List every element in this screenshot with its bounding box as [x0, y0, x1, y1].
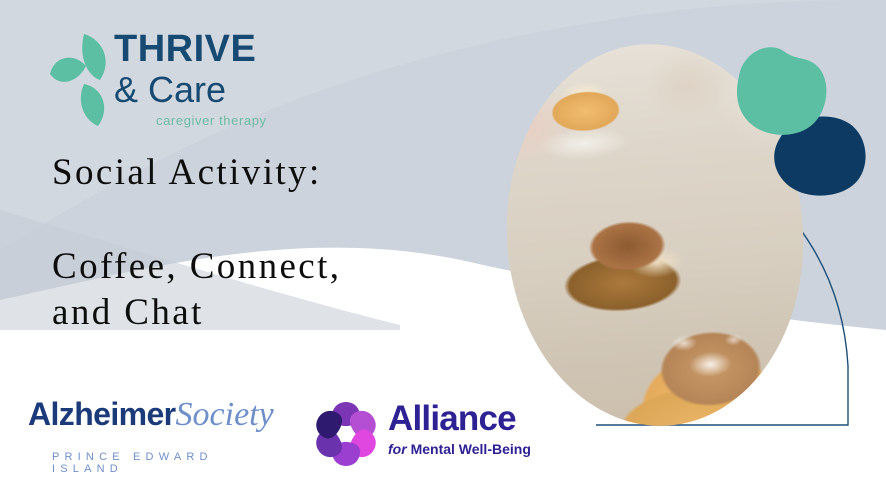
care-word: & Care: [114, 70, 267, 110]
headline-line-1: Social Activity:: [52, 150, 482, 196]
alzheimer-word: Alzheimer: [28, 396, 176, 432]
flyer-canvas: THRIVE & Care caregiver therapy Social A…: [0, 0, 886, 495]
thrive-logo-wordmark: THRIVE & Care caregiver therapy: [114, 28, 267, 130]
thrive-and-care-logo: THRIVE & Care caregiver therapy: [48, 28, 298, 140]
headline-line-2: Coffee, Connect,: [52, 244, 482, 290]
teal-blob-shape: [727, 42, 832, 142]
brand-tagline: caregiver therapy: [156, 112, 267, 130]
alzheimer-society-subtitle: PRINCE EDWARD ISLAND: [52, 451, 290, 475]
society-word: Society: [176, 396, 274, 433]
alzheimer-society-pei-logo: AlzheimerSociety PRINCE EDWARD ISLAND: [28, 396, 290, 468]
alliance-subtitle-main: Mental Well-Being: [411, 441, 531, 457]
headline-line-3: and Chat: [52, 290, 482, 336]
alliance-subtitle: for Mental Well-Being: [388, 440, 531, 458]
alliance-word: Alliance: [388, 400, 531, 438]
page-title: Social Activity: Coffee, Connect, and Ch…: [52, 150, 482, 336]
alliance-subtitle-for: for: [388, 441, 407, 457]
alzheimer-society-wordmark: AlzheimerSociety: [28, 396, 290, 439]
alliance-wordmark: Alliance for Mental Well-Being: [388, 400, 531, 458]
six-petal-ring-icon: [312, 400, 380, 468]
alliance-mental-wellbeing-logo: Alliance for Mental Well-Being: [312, 398, 542, 470]
thrive-word: THRIVE: [114, 28, 267, 70]
three-leaf-icon: [48, 30, 118, 130]
